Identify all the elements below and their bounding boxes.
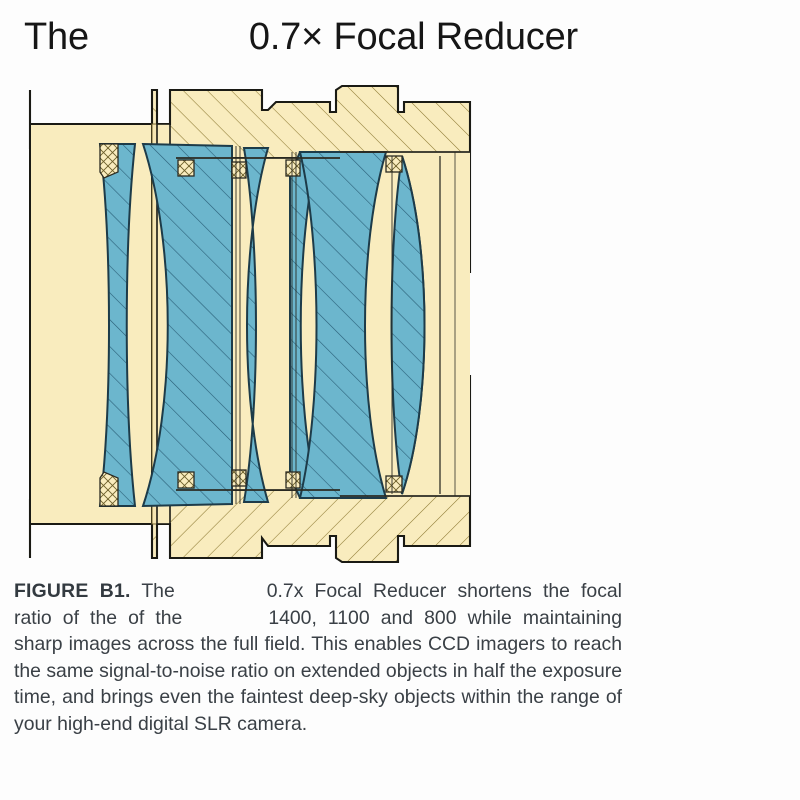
retainer-ring-2-top: [232, 162, 246, 178]
page-title-suffix: 0.7× Focal Reducer: [249, 14, 578, 60]
retainer-ring-3-bottom: [286, 472, 300, 488]
retainer-ring-1-bottom: [178, 472, 194, 488]
retainer-ring-4-bottom: [386, 476, 402, 492]
page-title-prefix: The: [24, 14, 89, 60]
retainer-ring-2-bottom: [232, 470, 246, 486]
figure-caption-part1: The: [141, 580, 174, 602]
front-clip-top: [100, 144, 118, 178]
retainer-ring-4-top: [386, 156, 402, 172]
title-bar: The0.7× Focal Reducer: [0, 0, 800, 74]
figure-container: [0, 76, 800, 572]
figure-caption: FIGURE B1. The0.7x Focal Reducer shorten…: [14, 578, 622, 738]
page-root: The0.7× Focal Reducer: [0, 0, 800, 800]
figure-caption-label: FIGURE B1.: [14, 580, 131, 602]
bore-cavity: [30, 124, 152, 524]
front-clip-bottom: [100, 472, 118, 506]
retainer-ring-3-top: [286, 160, 300, 176]
retainer-ring-1-top: [178, 160, 194, 176]
title-redaction-block: [88, 8, 240, 64]
focal-reducer-diagram: [0, 76, 800, 572]
